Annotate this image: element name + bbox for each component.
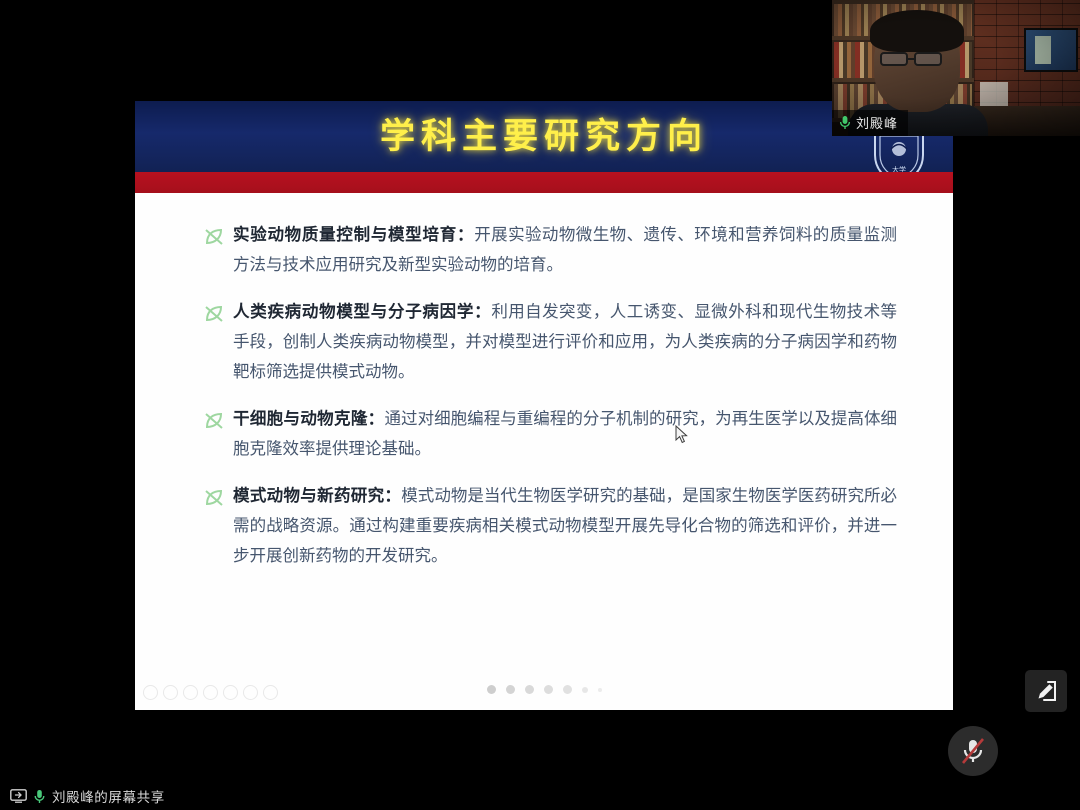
meeting-screen-share-view: 学科主要研究方向 大学 实验动物质量控制与模型培育：开展实验动物微生物、遗 — [0, 0, 1080, 810]
toolbar-icon-3[interactable] — [183, 685, 198, 700]
slide-bullet: 模式动物与新药研究：模式动物是当代生物医学研究的基础，是国家生物医学医药研究所必… — [203, 481, 897, 571]
toolbar-icon-2[interactable] — [163, 685, 178, 700]
pagination-dot — [563, 685, 572, 694]
annotate-button[interactable] — [1025, 670, 1067, 712]
microphone-active-icon — [839, 115, 851, 130]
participant-name-chip: 刘殿峰 — [832, 110, 908, 136]
screen-share-icon — [10, 789, 27, 803]
status-bar: 刘殿峰的屏幕共享 — [0, 782, 1080, 810]
slide-content: 实验动物质量控制与模型培育：开展实验动物微生物、遗传、环境和营养饲料的质量监测方… — [135, 193, 953, 710]
slide-bullet: 干细胞与动物克隆：通过对细胞编程与重编程的分子机制的研究，为再生医学以及提高体细… — [203, 404, 897, 464]
mouse-cursor — [675, 425, 689, 445]
toolbar-icon-7[interactable] — [263, 685, 278, 700]
slide-bullet-heading: 人类疾病动物模型与分子病因学： — [233, 302, 491, 321]
pagination-dot — [544, 685, 553, 694]
leaf-bullet-icon — [203, 404, 233, 464]
svg-text:大学: 大学 — [892, 165, 906, 172]
slide-bullet-text: 模式动物与新药研究：模式动物是当代生物医学研究的基础，是国家生物医学医药研究所必… — [233, 481, 897, 571]
leaf-bullet-icon — [203, 297, 233, 387]
participant-name: 刘殿峰 — [856, 113, 898, 132]
participant-video-tile[interactable]: 刘殿峰 — [832, 0, 1080, 136]
slide-bullet-heading: 模式动物与新药研究： — [233, 486, 401, 505]
slide-bullet-heading: 实验动物质量控制与模型培育： — [233, 225, 474, 244]
slide-title: 学科主要研究方向 — [135, 108, 953, 159]
shared-slide[interactable]: 学科主要研究方向 大学 实验动物质量控制与模型培育：开展实验动物微生物、遗 — [135, 101, 953, 710]
slide-bullet-heading: 干细胞与动物克隆： — [233, 409, 385, 428]
leaf-bullet-icon — [203, 481, 233, 571]
share-status-label: 刘殿峰的屏幕共享 — [52, 786, 165, 806]
pencil-annotate-icon — [1034, 679, 1058, 703]
toolbar-icon-1[interactable] — [143, 685, 158, 700]
toolbar-icon-6[interactable] — [243, 685, 258, 700]
pagination-dot — [506, 685, 515, 694]
slide-banner: 学科主要研究方向 大学 — [135, 101, 953, 172]
microphone-icon — [34, 789, 45, 804]
slide-red-stripe — [135, 172, 953, 193]
pagination-dot — [487, 685, 496, 694]
toolbar-icon-4[interactable] — [203, 685, 218, 700]
slide-bullet: 人类疾病动物模型与分子病因学：利用自发突变，人工诱变、显微外科和现代生物技术等手… — [203, 297, 897, 387]
pagination-dot — [582, 687, 588, 693]
slide-bullet-text: 干细胞与动物克隆：通过对细胞编程与重编程的分子机制的研究，为再生医学以及提高体细… — [233, 404, 897, 464]
mute-toggle-button[interactable] — [948, 726, 998, 776]
toolbar-icon-5[interactable] — [223, 685, 238, 700]
leaf-bullet-icon — [203, 220, 233, 280]
pagination-dot — [525, 685, 534, 694]
slide-bullet-text: 人类疾病动物模型与分子病因学：利用自发突变，人工诱变、显微外科和现代生物技术等手… — [233, 297, 897, 387]
microphone-muted-icon — [959, 736, 987, 766]
slide-bullet: 实验动物质量控制与模型培育：开展实验动物微生物、遗传、环境和营养饲料的质量监测方… — [203, 220, 897, 280]
slide-toolbar[interactable] — [143, 685, 278, 700]
slide-bullet-text: 实验动物质量控制与模型培育：开展实验动物微生物、遗传、环境和营养饲料的质量监测方… — [233, 220, 897, 280]
pagination-dot — [598, 688, 602, 692]
